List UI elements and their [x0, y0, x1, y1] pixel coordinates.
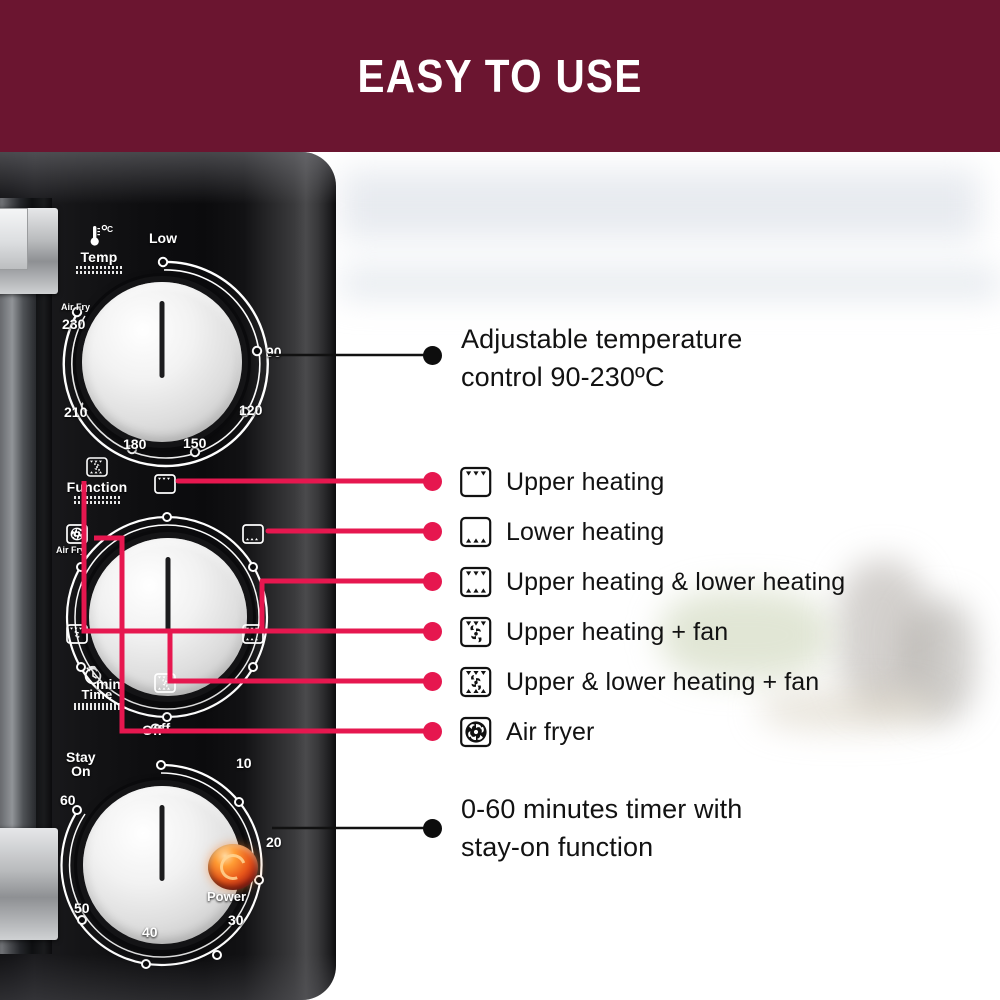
- callout-dot-air-fryer: [423, 722, 442, 741]
- oven-door-handle-plate: [0, 208, 28, 270]
- temp-tick-150: 150: [183, 435, 206, 451]
- power-lamp-highlight: [216, 850, 250, 884]
- function-legend-label: Upper heating: [506, 468, 664, 497]
- temp-tick-180: 180: [123, 436, 146, 452]
- oven-product-photo: C Temp: [0, 152, 336, 1000]
- timer-tick-stay-on: StayOn: [66, 750, 96, 779]
- timer-tick-off: Off: [142, 722, 162, 738]
- temperature-knob[interactable]: [82, 282, 242, 442]
- background-blur-object: [340, 170, 980, 240]
- air-fryer-icon: [459, 715, 493, 749]
- temp-tick-230: 230: [62, 316, 85, 332]
- function-legend-label: Upper heating + fan: [506, 618, 728, 647]
- upper-heating-fan-icon: [66, 624, 88, 644]
- power-label: Power: [207, 889, 246, 904]
- function-legend-row: Upper heating + fan: [459, 615, 728, 649]
- timer-stay-on-line2: On: [71, 763, 90, 779]
- temperature-callout-text: Adjustable temperature control 90-230ºC: [461, 320, 742, 397]
- function-legend-row: Upper & lower heating + fan: [459, 665, 819, 699]
- time-unit-label: min: [96, 676, 121, 692]
- timer-tick-10: 10: [236, 755, 252, 771]
- temp-tick-low: Low: [149, 230, 177, 246]
- infographic-canvas: C Temp: [0, 0, 1000, 1000]
- function-air-fry-label: Air Fry: [56, 545, 85, 555]
- timer-tick-60: 60: [60, 792, 76, 808]
- upper-lower-heating-icon: [242, 624, 264, 644]
- callout-dot-upper-lower-heating-fan: [423, 672, 442, 691]
- temp-tick-air-fry: Air Fry: [61, 302, 90, 312]
- function-legend-row: Upper heating: [459, 465, 664, 499]
- upper-heating-icon: [459, 465, 493, 499]
- function-knob-pointer: [166, 557, 171, 633]
- power-indicator-lamp: [208, 844, 258, 890]
- timer-tick-50: 50: [74, 900, 90, 916]
- upper-heating-fan-icon: [459, 615, 493, 649]
- air-fryer-icon: [66, 524, 88, 544]
- upper-lower-heating-fan-icon: [459, 665, 493, 699]
- callout-dot-lower-heating: [423, 522, 442, 541]
- oven-door-glass-reflection: [2, 230, 36, 920]
- upper-lower-heating-fan-icon: [154, 673, 176, 693]
- temperature-dial[interactable]: [42, 244, 282, 484]
- page-title: EASY TO USE: [357, 49, 642, 103]
- callout-dot-upper-lower-heating: [423, 572, 442, 591]
- upper-heating-icon: [154, 474, 176, 494]
- function-legend-label: Air fryer: [506, 718, 594, 747]
- function-legend-label: Upper heating & lower heating: [506, 568, 845, 597]
- lower-heating-icon: [459, 515, 493, 549]
- function-legend-row: Upper heating & lower heating: [459, 565, 845, 599]
- function-legend-label: Upper & lower heating + fan: [506, 668, 819, 697]
- lower-heating-icon: [242, 524, 264, 544]
- upper-lower-heating-icon: [459, 565, 493, 599]
- header-banner: EASY TO USE: [0, 0, 1000, 152]
- function-legend-label: Lower heating: [506, 518, 664, 547]
- temp-tick-210: 210: [64, 404, 87, 420]
- temperature-callout-line1: Adjustable temperature: [461, 320, 742, 358]
- timer-callout-dot: [423, 819, 442, 838]
- svg-text:C: C: [107, 224, 113, 234]
- temperature-knob-pointer: [160, 301, 165, 378]
- background-blur-object: [340, 268, 1000, 298]
- temperature-callout-line2: control 90-230ºC: [461, 358, 742, 396]
- callout-dot-upper-heating-fan: [423, 622, 442, 641]
- temp-tick-120: 120: [239, 402, 262, 418]
- callout-dot-upper-heating: [423, 472, 442, 491]
- timer-callout-text: 0-60 minutes timer with stay-on function: [461, 790, 742, 867]
- temp-tick-90: 90: [266, 344, 282, 360]
- timer-tick-40: 40: [142, 924, 158, 940]
- timer-tick-20: 20: [266, 834, 282, 850]
- function-legend-row: Lower heating: [459, 515, 664, 549]
- temp-callout-dot: [423, 346, 442, 365]
- function-legend-row: Air fryer: [459, 715, 594, 749]
- timer-callout-line1: 0-60 minutes timer with: [461, 790, 742, 828]
- timer-tick-30: 30: [228, 912, 244, 928]
- timer-knob-pointer: [160, 805, 165, 881]
- timer-callout-line2: stay-on function: [461, 828, 742, 866]
